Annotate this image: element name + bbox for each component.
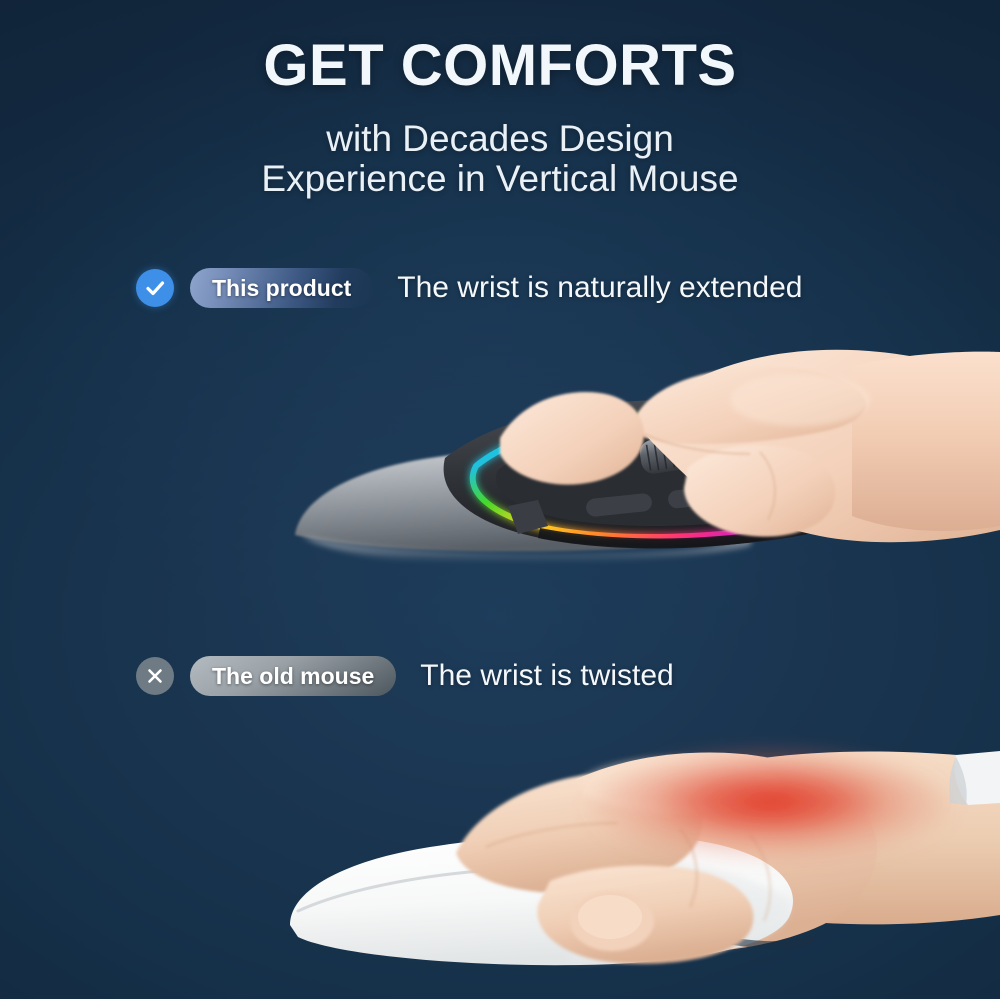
vertical-mouse-in-hand-photo	[240, 330, 1000, 590]
badge-this-product: This product	[190, 268, 373, 308]
subtitle-line-2: Experience in Vertical Mouse	[0, 159, 1000, 199]
comparison-row-old-mouse: The old mouse The wrist is twisted	[136, 656, 674, 696]
wrist-pain-indicator	[590, 751, 950, 863]
old-white-mouse-in-hand-photo	[250, 725, 1000, 999]
x-circle-icon	[136, 657, 174, 695]
caption-this-product: The wrist is naturally extended	[397, 271, 802, 305]
headline-block: GET COMFORTS with Decades Design Experie…	[0, 36, 1000, 199]
caption-old-mouse: The wrist is twisted	[420, 659, 673, 693]
comparison-row-this-product: This product The wrist is naturally exte…	[136, 268, 802, 308]
subtitle-line-1: with Decades Design	[0, 119, 1000, 159]
page-subtitle: with Decades Design Experience in Vertic…	[0, 119, 1000, 199]
badge-old-mouse: The old mouse	[190, 656, 396, 696]
page-title: GET COMFORTS	[0, 36, 1000, 97]
promo-banner: GET COMFORTS with Decades Design Experie…	[0, 0, 1000, 999]
check-circle-icon	[136, 269, 174, 307]
